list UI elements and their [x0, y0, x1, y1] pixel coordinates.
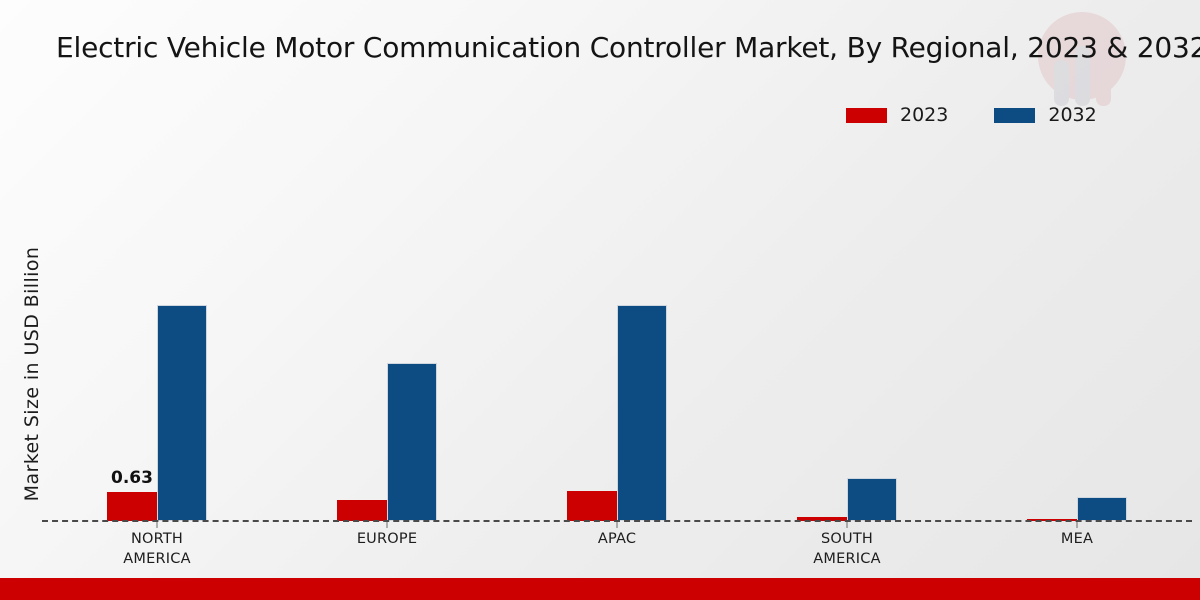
bar-group-south-america: SOUTH AMERICA: [732, 150, 962, 521]
bars-apac: [502, 150, 732, 521]
bar-value-north-america-2023: 0.63: [111, 468, 153, 488]
bar-group-apac: APAC: [502, 150, 732, 521]
bar-north-america-2023[interactable]: 0.63: [107, 492, 157, 521]
bar-mea-2032[interactable]: [1077, 497, 1127, 521]
chart-title: Electric Vehicle Motor Communication Con…: [56, 30, 1200, 67]
bar-south-america-2032[interactable]: [847, 478, 897, 521]
legend-swatch-2023-icon: [846, 108, 887, 123]
legend-label-2032: 2032: [1048, 104, 1096, 126]
bar-group-north-america: 0.63 NORTH AMERICA: [42, 150, 272, 521]
y-axis-title: Market Size in USD Billion: [21, 179, 43, 569]
bars-north-america: 0.63: [42, 150, 272, 521]
x-tick-south-america: [847, 521, 848, 528]
bar-group-mea: MEA: [962, 150, 1192, 521]
x-label-north-america: NORTH AMERICA: [42, 530, 272, 569]
legend-item-2023[interactable]: 2023: [846, 104, 948, 126]
bar-apac-2032[interactable]: [617, 305, 667, 521]
legend-item-2032[interactable]: 2032: [994, 104, 1096, 126]
x-label-south-america: SOUTH AMERICA: [732, 530, 962, 569]
bars-south-america: [732, 150, 962, 521]
legend-label-2023: 2023: [900, 104, 948, 126]
bar-apac-2023[interactable]: [567, 491, 617, 521]
bar-europe-2023[interactable]: [337, 500, 387, 521]
x-tick-mea: [1077, 521, 1078, 528]
legend-swatch-2032-icon: [994, 108, 1035, 123]
x-label-europe: EUROPE: [272, 530, 502, 550]
chart-page: Electric Vehicle Motor Communication Con…: [0, 0, 1200, 600]
bars-europe: [272, 150, 502, 521]
bar-group-europe: EUROPE: [272, 150, 502, 521]
bar-groups: 0.63 NORTH AMERICA EUROPE: [42, 150, 1192, 521]
x-tick-europe: [387, 521, 388, 528]
x-tick-north-america: [157, 521, 158, 528]
x-tick-apac: [617, 521, 618, 528]
x-label-apac: APAC: [502, 530, 732, 550]
chart-legend: 2023 2032: [846, 104, 1097, 126]
x-label-mea: MEA: [962, 530, 1192, 550]
bars-mea: [962, 150, 1192, 521]
bar-north-america-2032[interactable]: [157, 305, 207, 521]
bottom-accent-band: [0, 578, 1200, 600]
plot-area: 0.63 NORTH AMERICA EUROPE: [42, 150, 1192, 522]
bar-europe-2032[interactable]: [387, 363, 437, 521]
x-axis-baseline: [42, 520, 1192, 522]
